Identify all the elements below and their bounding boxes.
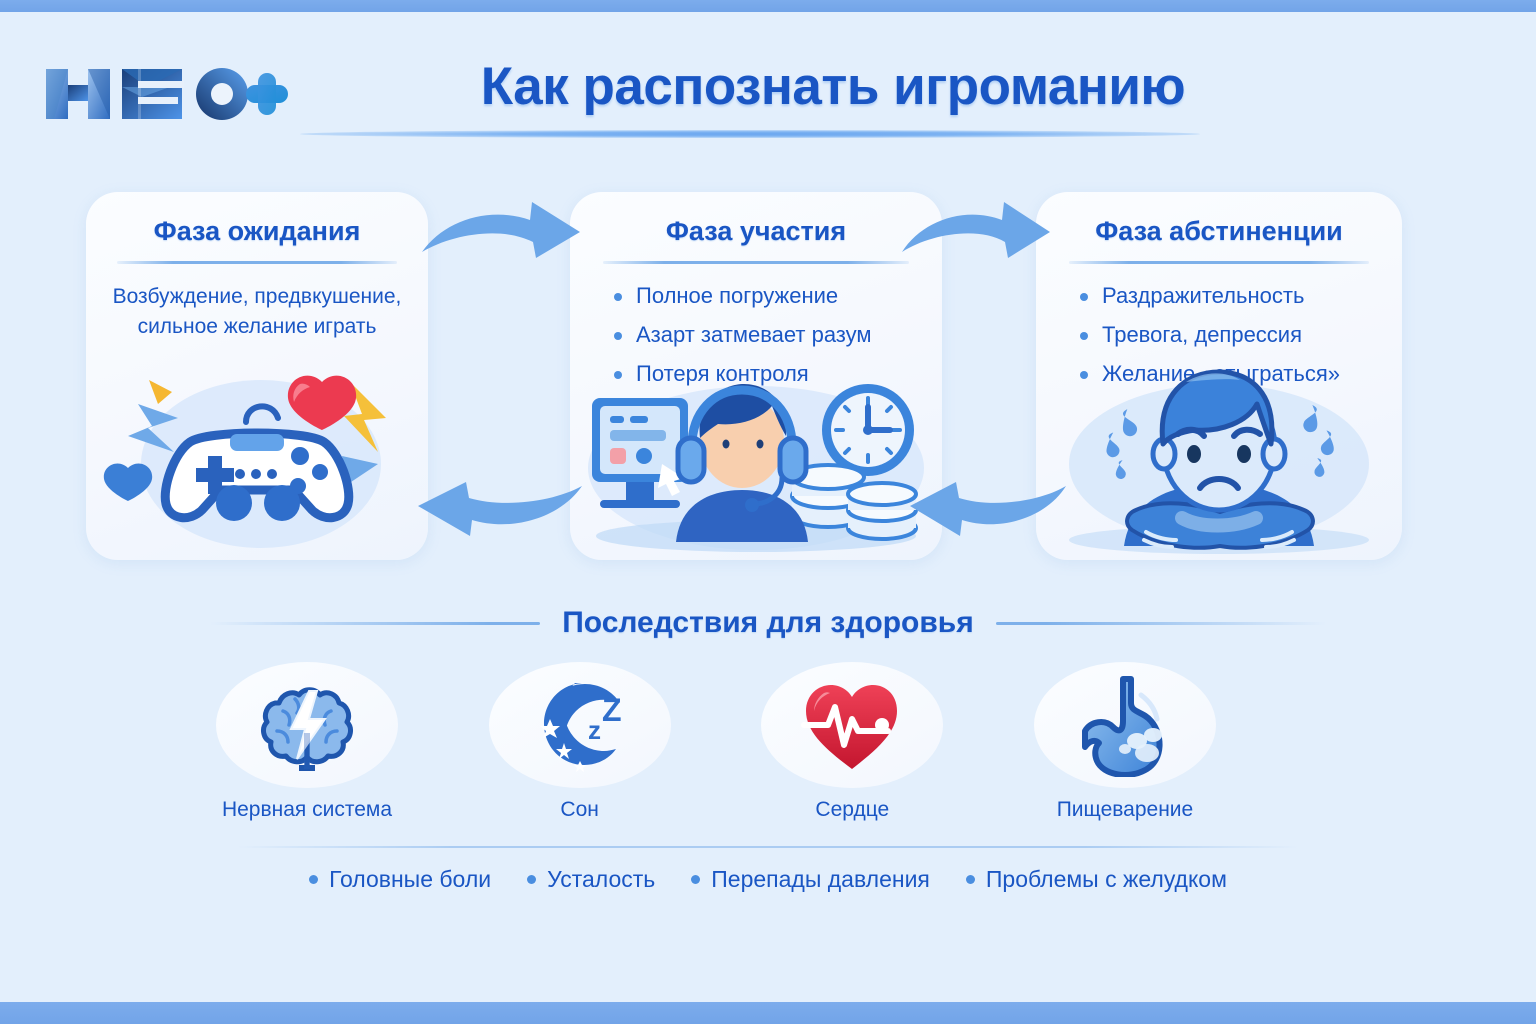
symptom-label: Усталость: [547, 866, 655, 893]
health-item-label: Сердце: [815, 798, 889, 822]
gamer-at-computer-illustration: [570, 360, 942, 560]
infographic-page: Как распознать игроманию Фаза ожидания В…: [0, 0, 1536, 1024]
phase-card-title: Фаза участия: [570, 216, 942, 247]
symptom-label: Головные боли: [329, 866, 491, 893]
icon-backdrop: [216, 662, 398, 788]
phase-card-withdrawal[interactable]: Фаза абстиненции Раздражительность Трево…: [1036, 192, 1402, 560]
symptom-item: Проблемы с желудком: [966, 866, 1227, 893]
health-item-digestion[interactable]: Пищеварение: [1034, 662, 1216, 822]
icon-backdrop: [1034, 662, 1216, 788]
heading-rule-left: [210, 622, 540, 625]
health-section-heading: Последствия для здоровья: [0, 606, 1536, 640]
list-item: Раздражительность: [1076, 282, 1380, 310]
card-divider: [117, 261, 397, 264]
health-item-sleep[interactable]: z Z Сон: [489, 662, 671, 822]
health-item-label: Пищеварение: [1057, 798, 1194, 822]
stomach-icon: [1069, 673, 1181, 777]
symptoms-row: Головные боли Усталость Перепады давлени…: [0, 866, 1536, 893]
phase-lead-text: Возбуждение, предвкушение, сильное желан…: [108, 282, 406, 342]
bullet-dot-icon: [691, 875, 700, 884]
symptom-label: Перепады давления: [711, 866, 930, 893]
health-item-label: Сон: [560, 798, 598, 822]
symptom-item: Перепады давления: [691, 866, 930, 893]
bullet-dot-icon: [966, 875, 975, 884]
bullet-dot-icon: [527, 875, 536, 884]
phase-cards-row: Фаза ожидания Возбуждение, предвкушение,…: [0, 192, 1536, 570]
top-accent-bar: [0, 0, 1536, 12]
health-item-label: Нервная система: [222, 798, 392, 822]
heading-rule-right: [996, 622, 1326, 625]
list-item: Азарт затмевает разум: [610, 321, 920, 349]
header: Как распознать игроманию: [0, 30, 1536, 140]
svg-text:Z: Z: [602, 692, 622, 728]
symptoms-divider: [238, 846, 1298, 848]
symptom-label: Проблемы с желудком: [986, 866, 1227, 893]
list-item: Полное погружение: [610, 282, 920, 310]
page-title: Как распознать игроманию: [0, 56, 1536, 117]
list-item: Тревога, депрессия: [1076, 321, 1380, 349]
icon-backdrop: z Z: [489, 662, 671, 788]
phase-card-title: Фаза абстиненции: [1036, 216, 1402, 247]
gamepad-illustration: [86, 360, 428, 560]
phase-card-title: Фаза ожидания: [86, 216, 428, 247]
heart-ecg-icon: [796, 673, 908, 777]
card-divider: [603, 261, 908, 264]
health-items-row: Нервная система z Z Сон: [216, 662, 1216, 822]
bullet-dot-icon: [309, 875, 318, 884]
health-item-nervous-system[interactable]: Нервная система: [216, 662, 398, 822]
card-divider: [1069, 261, 1369, 264]
icon-backdrop: [761, 662, 943, 788]
phase-card-participation[interactable]: Фаза участия Полное погружение Азарт зат…: [570, 192, 942, 560]
phase-card-body: Возбуждение, предвкушение, сильное желан…: [86, 282, 428, 342]
title-underline: [300, 130, 1200, 138]
moon-zz-icon: z Z: [524, 673, 636, 777]
brain-lightning-icon: [251, 673, 363, 777]
svg-text:z: z: [588, 715, 601, 745]
symptom-item: Головные боли: [309, 866, 491, 893]
bottom-accent-bar: [0, 1002, 1536, 1024]
health-heading-text: Последствия для здоровья: [562, 606, 974, 640]
phase-card-waiting[interactable]: Фаза ожидания Возбуждение, предвкушение,…: [86, 192, 428, 560]
sad-person-illustration: [1036, 360, 1402, 560]
symptom-item: Усталость: [527, 866, 655, 893]
health-item-heart[interactable]: Сердце: [761, 662, 943, 822]
